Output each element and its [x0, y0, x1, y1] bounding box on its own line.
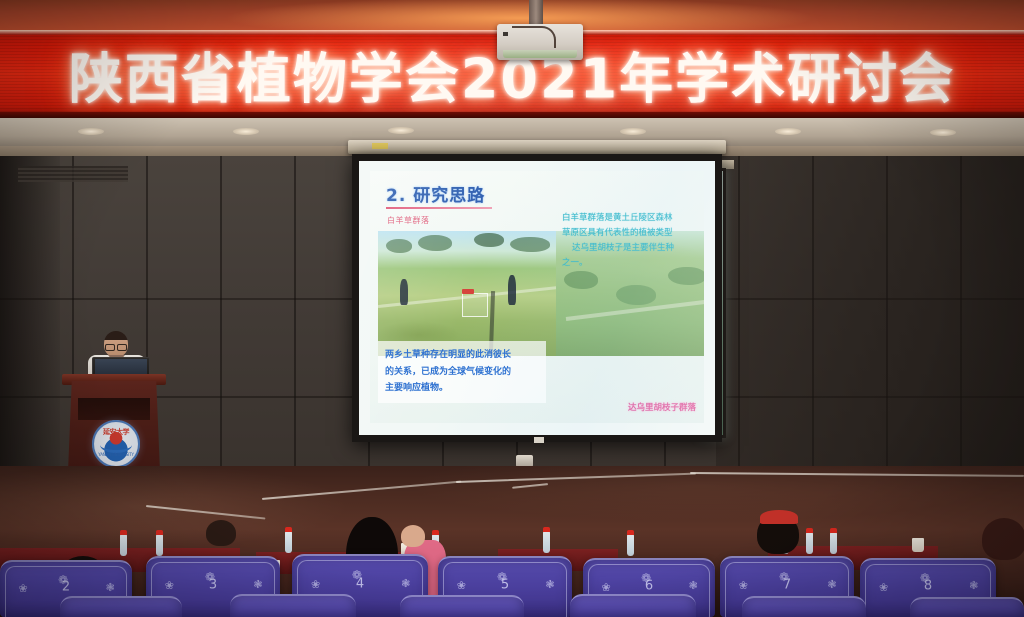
slide-body-line-4: 之一。 — [562, 258, 588, 268]
downlight-icon — [233, 128, 259, 135]
seat-number-label: 8 — [924, 579, 932, 594]
slide-photo-a-label: 白羊草群落 — [387, 215, 430, 226]
presentation-slide: 2. 研究思路 白羊草群落 — [370, 171, 704, 423]
person-figure — [400, 279, 408, 305]
screen-surface: 2. 研究思路 白羊草群落 — [359, 161, 715, 435]
seat-logo-left-icon: ❀ — [601, 581, 610, 594]
screen-roller-housing — [348, 140, 726, 154]
tree-icon — [474, 233, 504, 247]
seat-front-row[interactable] — [742, 596, 866, 617]
wall-left-shadow — [0, 156, 60, 466]
audience-head — [982, 518, 1024, 560]
slide-title: 2. 研究思路 — [386, 181, 485, 206]
wall-right-shadow — [716, 156, 1024, 466]
water-bottle-icon — [120, 534, 127, 556]
slide-callout-box: 两乡土草种存在明显的此消彼长 的关系，已成为全球气候变化的 主要响应植物。 — [378, 341, 546, 403]
podium-front-inset — [78, 398, 150, 420]
seat-logo-left-icon: ❀ — [739, 579, 748, 592]
bottle-cap-icon — [830, 528, 837, 533]
slide-callout-line-1: 两乡土草种存在明显的此消彼长 — [385, 347, 539, 364]
slide-callout-line-2: 的关系，已成为全球气候变化的 — [385, 364, 539, 381]
seat-front-row[interactable] — [60, 596, 182, 617]
screen-housing-label — [372, 143, 388, 149]
seat-front-row[interactable] — [400, 595, 524, 617]
slide-caption-bottom-right: 达乌里胡枝子群落 — [628, 401, 696, 413]
slide-body-line-1: 白羊草群落是黄土丘陵区森林 — [562, 213, 673, 223]
seat-logo-right-icon: ❃ — [969, 579, 978, 592]
seat-logo-right-icon: ❃ — [827, 578, 836, 591]
bottle-cap-icon — [543, 527, 550, 532]
seat-logo-right-icon: ❃ — [401, 577, 410, 590]
seat-number-label: 5 — [501, 578, 509, 593]
bottle-cap-icon — [627, 530, 634, 535]
red-marker — [462, 289, 474, 294]
slide-title-underline — [386, 207, 492, 209]
seat-logo-left-icon: ❀ — [165, 579, 174, 592]
bottle-cap-icon — [432, 530, 439, 535]
water-bottle-icon — [543, 531, 550, 553]
audience-cap-icon — [760, 510, 798, 524]
seat-number-label: 4 — [356, 577, 364, 592]
slide-callout-line-3: 主要响应植物。 — [385, 380, 539, 397]
seat-logo-left-icon: ❀ — [18, 582, 27, 595]
emblem-chinese-text: 延安大学 — [92, 427, 140, 437]
emblem-arc — [100, 437, 132, 453]
projector-mount — [529, 0, 543, 26]
tree-icon — [418, 235, 452, 251]
projector-vent — [503, 50, 577, 58]
seat-logo-left-icon: ❀ — [311, 578, 320, 591]
seat-number-label: 6 — [645, 579, 653, 594]
sampling-quadrat — [462, 293, 488, 317]
water-bottle-icon — [830, 532, 837, 554]
seat-front-row[interactable] — [230, 594, 356, 617]
tree-icon — [510, 237, 550, 252]
downlight-icon — [775, 128, 801, 135]
slide-body-text: 白羊草群落是黄土丘陵区森林 草原区具有代表性的植被类型 达乌里胡枝子是主要伴生种… — [562, 211, 704, 271]
audience-head — [401, 525, 425, 547]
downlight-icon — [78, 128, 104, 135]
seat-logo-right-icon: ❃ — [253, 578, 262, 591]
downlight-icon — [388, 127, 414, 134]
projector-cable — [512, 26, 556, 48]
water-bottle-icon — [806, 532, 813, 554]
seat-front-row[interactable] — [570, 594, 696, 617]
bottle-cap-icon — [156, 530, 163, 535]
downlight-icon — [930, 129, 956, 136]
seat-logo-right-icon: ❃ — [545, 578, 554, 591]
tree-icon — [386, 239, 412, 253]
water-bottle-icon — [627, 534, 634, 556]
emblem-english-text: YANAN UNIVERSITY — [92, 452, 140, 457]
bottle-cap-icon — [120, 530, 127, 535]
bottle-cap-icon — [285, 527, 292, 532]
projection-screen: 2. 研究思路 白羊草群落 — [352, 154, 722, 442]
wall-vent-grille — [18, 166, 128, 182]
seat-number-label: 3 — [209, 578, 217, 593]
water-bottle-icon — [156, 534, 163, 556]
seat-logo-right-icon: ❃ — [689, 579, 698, 592]
slide-photo-grassland-left — [378, 231, 556, 356]
seat-logo-left-icon: ❀ — [879, 581, 888, 594]
shrub-icon — [616, 285, 656, 305]
person-figure — [508, 275, 516, 305]
seat-number-label: 2 — [62, 580, 70, 595]
paper-cup-icon — [912, 538, 924, 552]
seat-number-label: 7 — [783, 578, 791, 593]
projector-indicator-icon — [503, 32, 508, 36]
slide-body-line-2: 草原区具有代表性的植被类型 — [562, 228, 673, 238]
bottle-cap-icon — [806, 528, 813, 533]
shrub-icon — [564, 271, 598, 289]
downlight-icon — [620, 128, 646, 135]
glasses-icon — [104, 344, 128, 349]
seat-front-row[interactable] — [910, 597, 1024, 617]
seat-logo-right-icon: ❃ — [106, 581, 115, 594]
seat-logo-left-icon: ❀ — [457, 579, 466, 592]
slide-body-line-3: 达乌里胡枝子是主要伴生种 — [562, 241, 704, 256]
screen-bottom-fitting — [534, 437, 544, 443]
audience-head — [206, 520, 236, 546]
water-bottle-icon — [285, 531, 292, 553]
conference-hall-scene: 陕西省植物学会2021年学术研讨会 2. 研究思路 白羊草群落 — [0, 0, 1024, 617]
